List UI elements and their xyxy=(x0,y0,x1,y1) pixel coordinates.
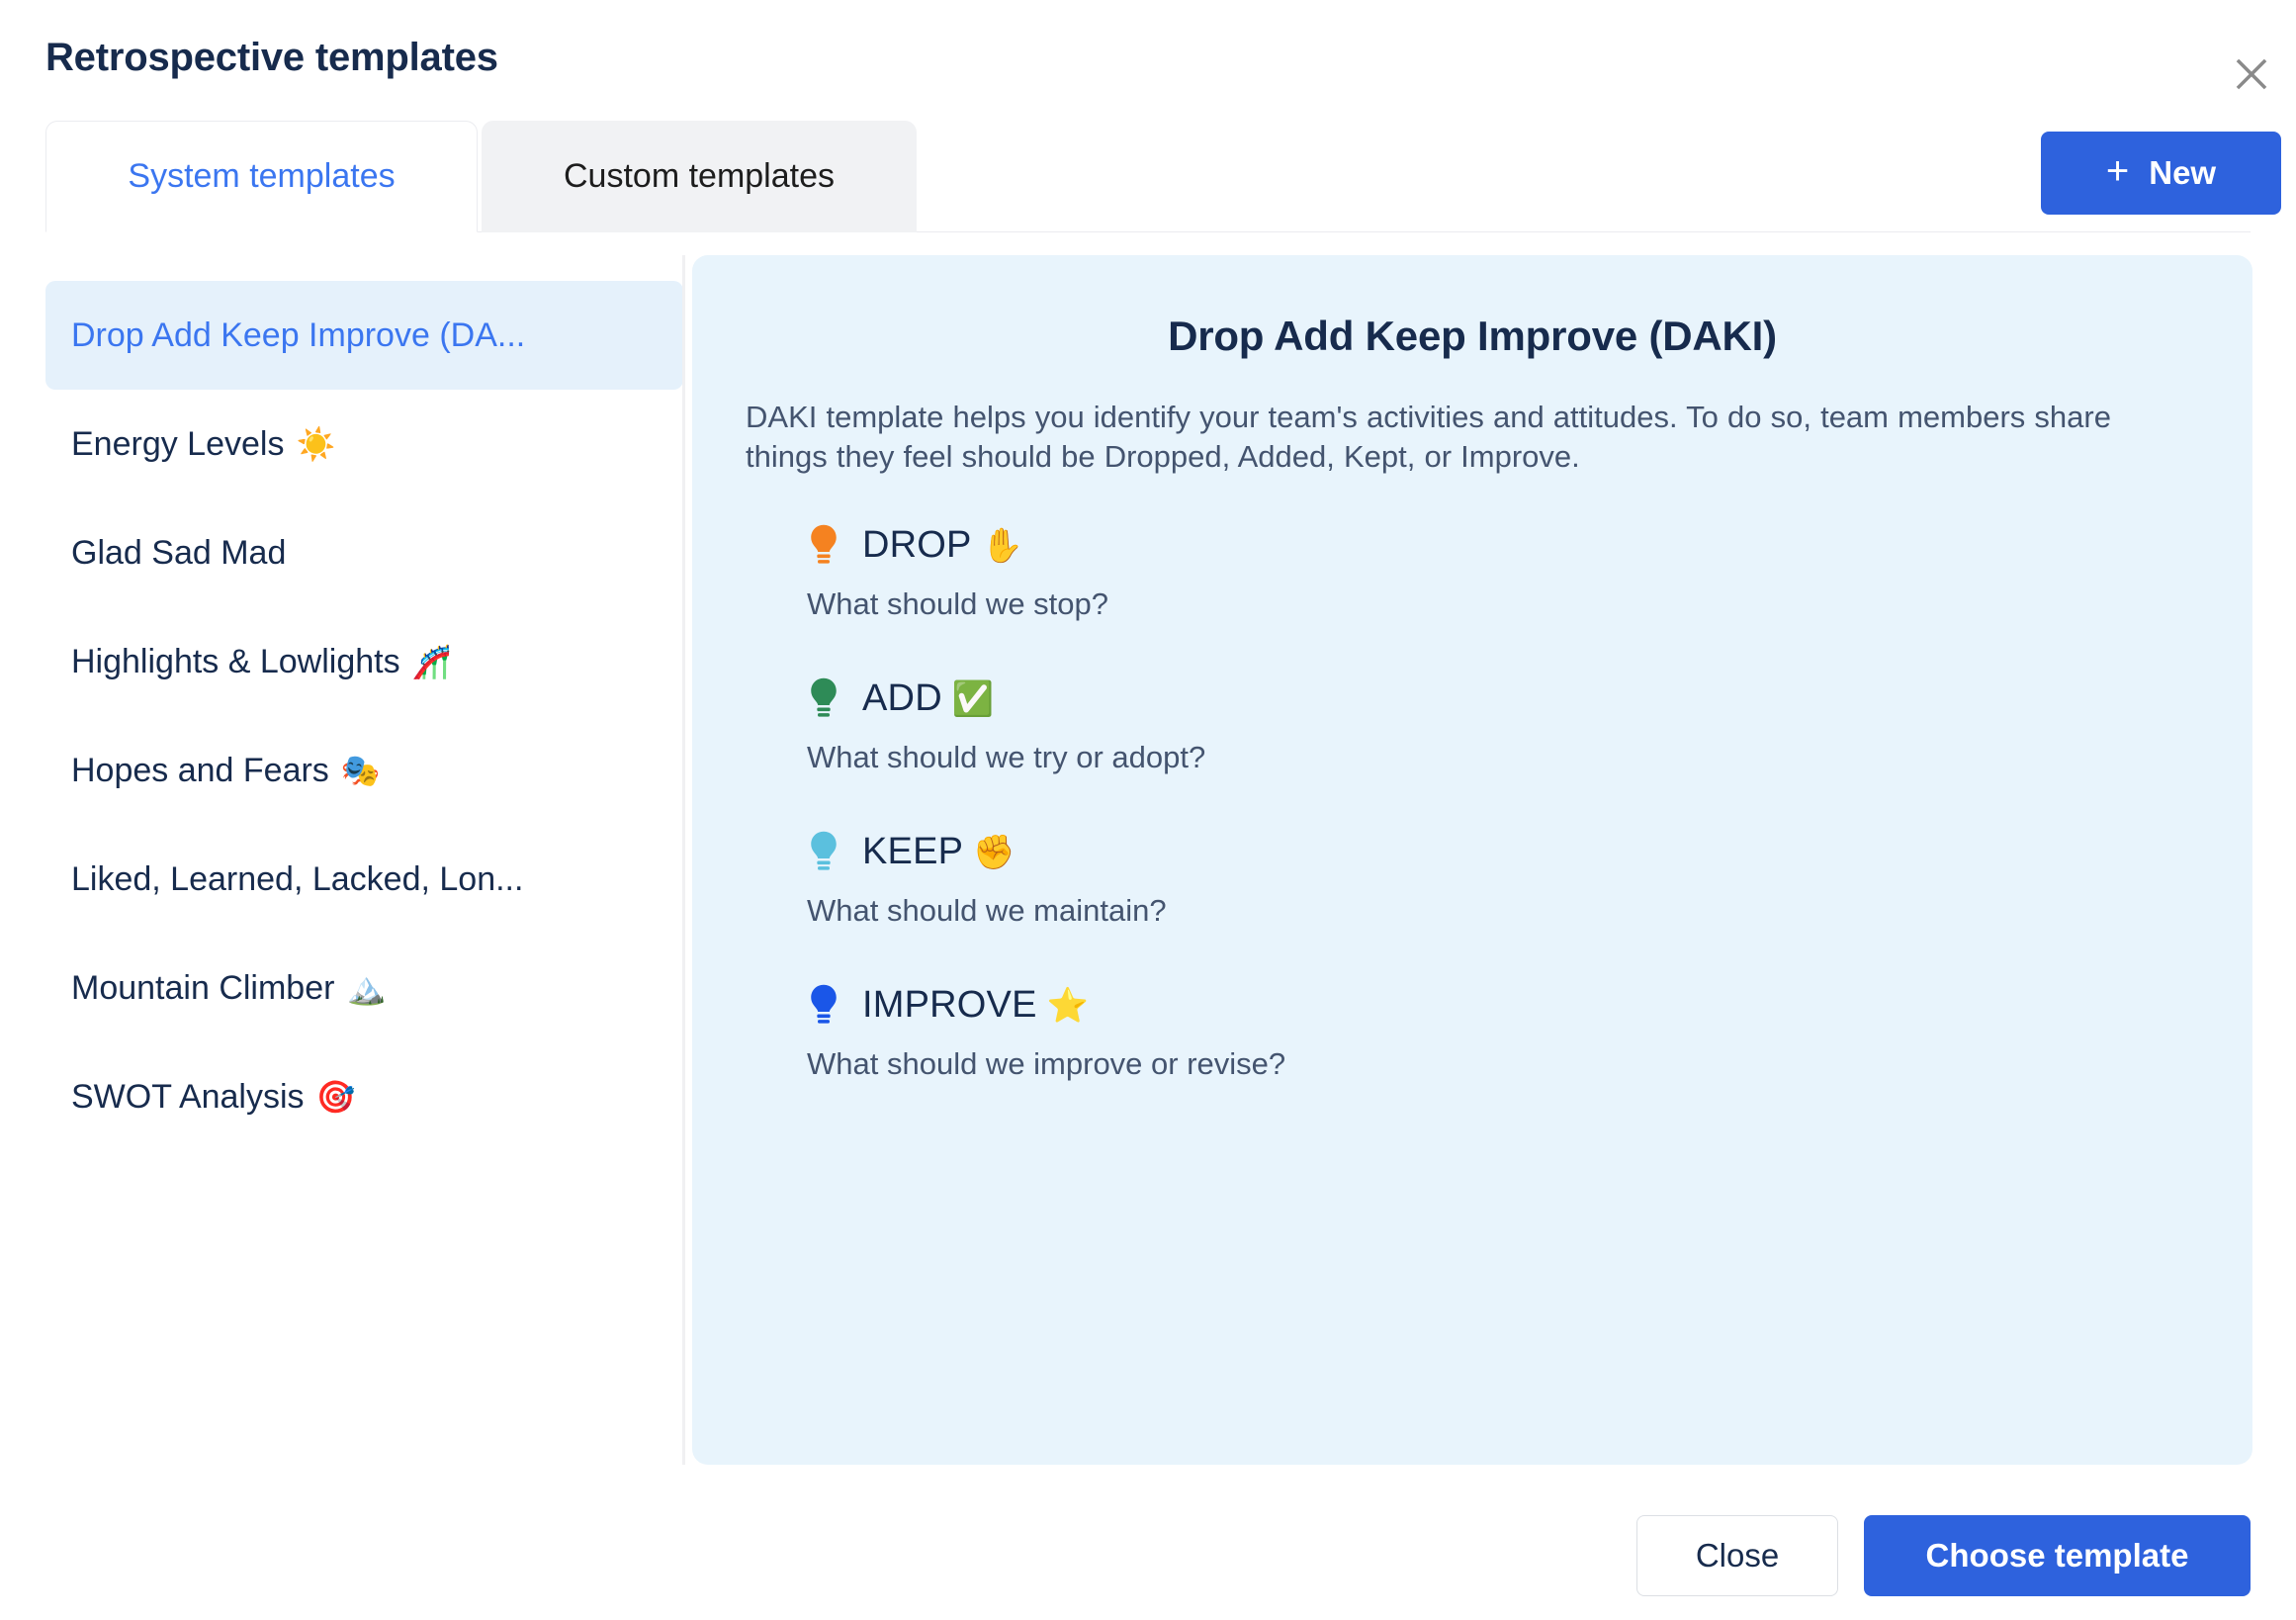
detail-section-emoji-icon: ✋ xyxy=(982,529,1023,563)
panel-divider xyxy=(682,255,685,1465)
new-button-label: New xyxy=(2149,154,2216,192)
page-title: Retrospective templates xyxy=(45,36,498,80)
choose-template-button[interactable]: Choose template xyxy=(1864,1515,2251,1596)
list-item-label: SWOT Analysis xyxy=(71,1078,305,1117)
list-item[interactable]: Hopes and Fears🎭 xyxy=(45,716,683,825)
list-item-emoji-icon: 🎯 xyxy=(316,1081,356,1113)
tabs-row: Custom templates System templates xyxy=(0,121,2296,233)
list-item[interactable]: Liked, Learned, Lacked, Lon... xyxy=(45,825,683,934)
detail-section-heading: IMPROVE⭐ xyxy=(807,983,2199,1029)
detail-section-label: ADD xyxy=(862,678,942,720)
lightbulb-icon xyxy=(807,830,840,875)
detail-sections: DROP✋What should we stop?ADD✅What should… xyxy=(746,523,2199,1082)
list-item[interactable]: SWOT Analysis🎯 xyxy=(45,1042,683,1151)
list-item-emoji-icon: 🎭 xyxy=(341,755,381,786)
list-item-label: Glad Sad Mad xyxy=(71,534,286,573)
list-item-emoji-icon: ☀️ xyxy=(296,428,335,460)
lightbulb-icon xyxy=(807,523,840,569)
detail-section-label: KEEP xyxy=(862,832,963,873)
list-item[interactable]: Mountain Climber🏔️ xyxy=(45,934,683,1042)
detail-section: KEEP✊What should we maintain? xyxy=(807,830,2199,929)
detail-section-label: DROP xyxy=(862,525,972,567)
close-icon[interactable] xyxy=(2221,44,2282,105)
detail-section-label: IMPROVE xyxy=(862,985,1037,1027)
list-item-emoji-icon: 🎢 xyxy=(412,646,452,677)
detail-title: Drop Add Keep Improve (DAKI) xyxy=(746,313,2199,360)
close-button[interactable]: Close xyxy=(1636,1515,1838,1596)
list-item-label: Drop Add Keep Improve (DA... xyxy=(71,316,525,355)
lightbulb-icon xyxy=(807,676,840,722)
template-list: Drop Add Keep Improve (DA...Energy Level… xyxy=(45,281,683,1448)
list-item-label: Energy Levels xyxy=(71,425,284,464)
tab-system-templates[interactable]: System templates xyxy=(45,121,478,232)
detail-section-question: What should we stop? xyxy=(807,586,2199,622)
list-item[interactable]: Drop Add Keep Improve (DA... xyxy=(45,281,683,390)
detail-section: ADD✅What should we try or adopt? xyxy=(807,676,2199,775)
add-new-template-button[interactable]: + New xyxy=(2041,132,2281,215)
detail-section-heading: KEEP✊ xyxy=(807,830,2199,875)
retrospective-templates-dialog: Retrospective templates Custom templates… xyxy=(0,0,2296,1620)
list-item-label: Highlights & Lowlights xyxy=(71,643,400,681)
dialog-footer: Close Choose template xyxy=(0,1480,2296,1620)
tab-custom-templates[interactable]: Custom templates xyxy=(482,121,917,232)
list-item-label: Liked, Learned, Lacked, Lon... xyxy=(71,860,523,899)
detail-section-question: What should we try or adopt? xyxy=(807,740,2199,775)
detail-section: DROP✋What should we stop? xyxy=(807,523,2199,622)
detail-section-emoji-icon: ⭐ xyxy=(1047,989,1089,1023)
list-item-label: Mountain Climber xyxy=(71,969,334,1008)
lightbulb-icon xyxy=(807,983,840,1029)
detail-section-emoji-icon: ✅ xyxy=(952,682,994,716)
template-detail-panel: Drop Add Keep Improve (DAKI) DAKI templa… xyxy=(692,255,2252,1465)
detail-section-heading: DROP✋ xyxy=(807,523,2199,569)
plus-icon: + xyxy=(2106,151,2129,191)
detail-section-emoji-icon: ✊ xyxy=(973,836,1015,869)
dialog-body: Drop Add Keep Improve (DA...Energy Level… xyxy=(0,233,2296,1480)
dialog-header: Retrospective templates xyxy=(0,0,2296,117)
list-item[interactable]: Highlights & Lowlights🎢 xyxy=(45,607,683,716)
detail-description: DAKI template helps you identify your te… xyxy=(746,398,2199,476)
list-item[interactable]: Energy Levels☀️ xyxy=(45,390,683,498)
list-item[interactable]: Glad Sad Mad xyxy=(45,498,683,607)
detail-section-heading: ADD✅ xyxy=(807,676,2199,722)
detail-section: IMPROVE⭐What should we improve or revise… xyxy=(807,983,2199,1082)
list-item-label: Hopes and Fears xyxy=(71,752,329,790)
list-item-emoji-icon: 🏔️ xyxy=(346,972,386,1004)
detail-section-question: What should we improve or revise? xyxy=(807,1046,2199,1082)
detail-section-question: What should we maintain? xyxy=(807,893,2199,929)
